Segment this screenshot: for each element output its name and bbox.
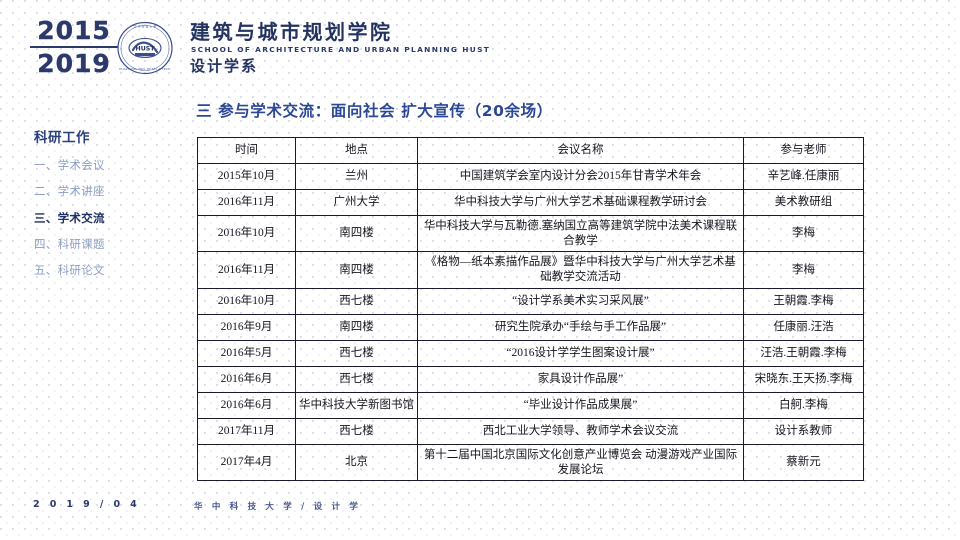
cell-teacher: 美术教研组 — [744, 190, 864, 216]
cell-time: 2016年9月 — [198, 314, 296, 340]
cell-teacher: 任康丽.汪浩 — [744, 314, 864, 340]
cell-time: 2017年11月 — [198, 418, 296, 444]
cell-place: 西七楼 — [296, 288, 418, 314]
table-row: 2016年6月 华中科技大学新图书馆 “毕业设计作品成果展” 白舸.李梅 — [198, 392, 864, 418]
year-divider — [30, 46, 118, 48]
cell-time: 2016年6月 — [198, 392, 296, 418]
cell-place: 广州大学 — [296, 190, 418, 216]
year-range-logo: 2015 2019 — [28, 18, 120, 76]
table-row: 2016年9月 南四楼 研究生院承办“手绘与手工作品展” 任康丽.汪浩 — [198, 314, 864, 340]
cell-place: 南四楼 — [296, 314, 418, 340]
table-row: 2016年10月 西七楼 “设计学系美术实习采风展” 王朝霞.李梅 — [198, 288, 864, 314]
cell-teacher: 汪浩.王朝霞.李梅 — [744, 340, 864, 366]
table-row: 2016年11月 广州大学 华中科技大学与广州大学艺术基础课程教学研讨会 美术教… — [198, 190, 864, 216]
cell-time: 2016年11月 — [198, 252, 296, 288]
cell-place: 北京 — [296, 444, 418, 480]
table-row: 2015年10月 兰州 中国建筑学会室内设计分会2015年甘青学术年会 辛艺峰.… — [198, 164, 864, 190]
table-body: 2015年10月 兰州 中国建筑学会室内设计分会2015年甘青学术年会 辛艺峰.… — [198, 164, 864, 481]
cell-place: 兰州 — [296, 164, 418, 190]
cell-time: 2017年4月 — [198, 444, 296, 480]
cell-time: 2016年5月 — [198, 340, 296, 366]
slide-header: 2015 2019 HUST 华 中 科 技 大 学 HUAZHONG UNIV… — [0, 0, 960, 86]
cell-place: 南四楼 — [296, 216, 418, 252]
department-name: 设计学系 — [190, 55, 258, 76]
cell-place: 西七楼 — [296, 418, 418, 444]
cell-place: 西七楼 — [296, 366, 418, 392]
sidebar-item-research-project[interactable]: 四、科研课题 — [34, 238, 154, 252]
column-header-teacher: 参与老师 — [744, 138, 864, 164]
cell-name: 中国建筑学会室内设计分会2015年甘青学术年会 — [418, 164, 744, 190]
hust-seal-logo: HUST 华 中 科 技 大 学 HUAZHONG UNIV. OF SCI. … — [116, 19, 174, 77]
table-header-row: 时间 地点 会议名称 参与老师 — [198, 138, 864, 164]
sidebar-item-academic-exchange[interactable]: 三、学术交流 — [34, 212, 154, 226]
cell-teacher: 蔡新元 — [744, 444, 864, 480]
cell-name: “毕业设计作品成果展” — [418, 392, 744, 418]
cell-name: 西北工业大学领导、教师学术会议交流 — [418, 418, 744, 444]
cell-name: “2016设计学学生图案设计展” — [418, 340, 744, 366]
cell-time: 2016年10月 — [198, 288, 296, 314]
cell-name: “设计学系美术实习采风展” — [418, 288, 744, 314]
cell-teacher: 宋晓东.王天扬.李梅 — [744, 366, 864, 392]
school-name-en: SCHOOL OF ARCHITECTURE AND URBAN PLANNIN… — [191, 45, 490, 54]
cell-name: 《格物—纸本素描作品展》暨华中科技大学与广州大学艺术基础教学交流活动 — [418, 252, 744, 288]
cell-time: 2016年10月 — [198, 216, 296, 252]
column-header-time: 时间 — [198, 138, 296, 164]
svg-text:华 中 科 技 大 学: 华 中 科 技 大 学 — [134, 23, 157, 28]
table-row: 2016年5月 西七楼 “2016设计学学生图案设计展” 汪浩.王朝霞.李梅 — [198, 340, 864, 366]
footer-date: 2 0 1 9 / 0 4 — [33, 499, 140, 510]
page-title: 三 参与学术交流：面向社会 扩大宣传（20余场） — [196, 99, 553, 121]
cell-name: 华中科技大学与瓦勒德.塞纳国立高等建筑学院中法美术课程联合教学 — [418, 216, 744, 252]
table-row: 2017年4月 北京 第十二届中国北京国际文化创意产业博览会 动漫游戏产业国际发… — [198, 444, 864, 480]
cell-place: 西七楼 — [296, 340, 418, 366]
svg-text:HUST: HUST — [136, 46, 156, 53]
cell-teacher: 白舸.李梅 — [744, 392, 864, 418]
cell-name: 第十二届中国北京国际文化创意产业博览会 动漫游戏产业国际发展论坛 — [418, 444, 744, 480]
table-row: 2016年6月 西七楼 家具设计作品展” 宋晓东.王天扬.李梅 — [198, 366, 864, 392]
table-row: 2016年11月 南四楼 《格物—纸本素描作品展》暨华中科技大学与广州大学艺术基… — [198, 252, 864, 288]
column-header-place: 地点 — [296, 138, 418, 164]
sidebar-title: 科研工作 — [34, 126, 154, 146]
cell-place: 南四楼 — [296, 252, 418, 288]
schedule-table-wrap: 时间 地点 会议名称 参与老师 2015年10月 兰州 中国建筑学会室内设计分会… — [197, 137, 863, 481]
sidebar-nav: 科研工作 一、学术会议 二、学术讲座 三、学术交流 四、科研课题 五、科研论文 — [34, 126, 154, 290]
cell-teacher: 设计系教师 — [744, 418, 864, 444]
sidebar-item-academic-lecture[interactable]: 二、学术讲座 — [34, 185, 154, 199]
column-header-name: 会议名称 — [418, 138, 744, 164]
cell-name: 研究生院承办“手绘与手工作品展” — [418, 314, 744, 340]
year-from: 2015 — [28, 18, 120, 43]
footer-organization: 华 中 科 技 大 学 / 设 计 学 — [194, 500, 361, 512]
table-row: 2017年11月 西七楼 西北工业大学领导、教师学术会议交流 设计系教师 — [198, 418, 864, 444]
sidebar-item-research-paper[interactable]: 五、科研论文 — [34, 264, 154, 278]
cell-teacher: 王朝霞.李梅 — [744, 288, 864, 314]
cell-teacher: 李梅 — [744, 216, 864, 252]
sidebar-item-academic-conference[interactable]: 一、学术会议 — [34, 159, 154, 173]
cell-place: 华中科技大学新图书馆 — [296, 392, 418, 418]
slide-root: 2015 2019 HUST 华 中 科 技 大 学 HUAZHONG UNIV… — [0, 0, 960, 540]
cell-time: 2016年11月 — [198, 190, 296, 216]
cell-teacher: 李梅 — [744, 252, 864, 288]
school-name-cn: 建筑与城市规划学院 — [190, 22, 393, 44]
year-to: 2019 — [28, 51, 120, 76]
academic-exchange-table: 时间 地点 会议名称 参与老师 2015年10月 兰州 中国建筑学会室内设计分会… — [197, 137, 864, 481]
cell-name: 家具设计作品展” — [418, 366, 744, 392]
cell-time: 2015年10月 — [198, 164, 296, 190]
svg-text:HUAZHONG UNIV. OF SCI. & TECH.: HUAZHONG UNIV. OF SCI. & TECH. — [119, 67, 171, 71]
cell-name: 华中科技大学与广州大学艺术基础课程教学研讨会 — [418, 190, 744, 216]
cell-time: 2016年6月 — [198, 366, 296, 392]
table-row: 2016年10月 南四楼 华中科技大学与瓦勒德.塞纳国立高等建筑学院中法美术课程… — [198, 216, 864, 252]
cell-teacher: 辛艺峰.任康丽 — [744, 164, 864, 190]
